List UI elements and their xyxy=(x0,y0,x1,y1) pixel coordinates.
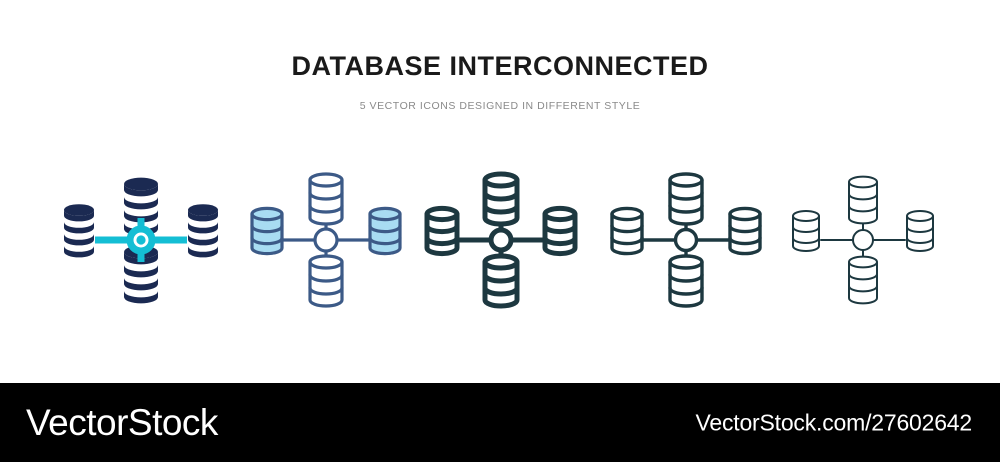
database-interconnected-two-tone-icon xyxy=(236,152,416,327)
connector-hub-accent xyxy=(95,218,187,262)
page-title: DATABASE INTERCONNECTED xyxy=(0,0,1000,82)
db-left xyxy=(612,208,642,253)
db-top xyxy=(485,174,517,224)
db-bottom xyxy=(485,256,517,306)
db-bottom xyxy=(670,256,702,306)
db-right xyxy=(907,211,933,251)
db-left xyxy=(64,204,94,257)
connector-hub xyxy=(676,230,697,251)
icon-variant-4-regular-outline[interactable] xyxy=(596,152,776,327)
icon-variant-5-thin-outline[interactable] xyxy=(773,152,953,327)
db-bottom xyxy=(310,256,342,306)
vectorstock-url[interactable]: VectorStock.com/27602642 xyxy=(696,409,973,436)
footer-bar: VectorStock VectorStock.com/27602642 xyxy=(0,383,1000,462)
db-right xyxy=(730,208,760,253)
vectorstock-logo[interactable]: VectorStock xyxy=(26,402,218,444)
db-right xyxy=(370,208,400,253)
connector-hub xyxy=(853,230,873,250)
db-top xyxy=(849,177,877,224)
icon-variant-2-two-tone-outline[interactable] xyxy=(236,152,416,327)
database-interconnected-bold-outline-icon xyxy=(411,152,591,327)
db-right xyxy=(188,204,218,257)
db-left xyxy=(252,208,282,253)
connector-hub xyxy=(315,229,337,251)
icon-variant-1-filled[interactable] xyxy=(51,152,231,327)
database-interconnected-thin-outline-icon xyxy=(773,152,953,327)
db-bottom xyxy=(849,257,877,304)
header: DATABASE INTERCONNECTED 5 VECTOR ICONS D… xyxy=(0,0,1000,112)
database-interconnected-regular-outline-icon xyxy=(596,152,776,327)
poster-canvas: DATABASE INTERCONNECTED 5 VECTOR ICONS D… xyxy=(0,0,1000,462)
db-top xyxy=(310,174,342,224)
page-subtitle: 5 VECTOR ICONS DESIGNED IN DIFFERENT STY… xyxy=(0,82,1000,113)
db-top xyxy=(670,174,702,224)
db-right xyxy=(545,208,575,253)
icon-row xyxy=(0,152,1000,327)
database-interconnected-filled-icon xyxy=(51,152,231,327)
icon-variant-3-bold-outline[interactable] xyxy=(411,152,591,327)
db-left xyxy=(427,208,457,253)
connector-hub xyxy=(491,230,511,250)
db-left xyxy=(793,211,819,251)
